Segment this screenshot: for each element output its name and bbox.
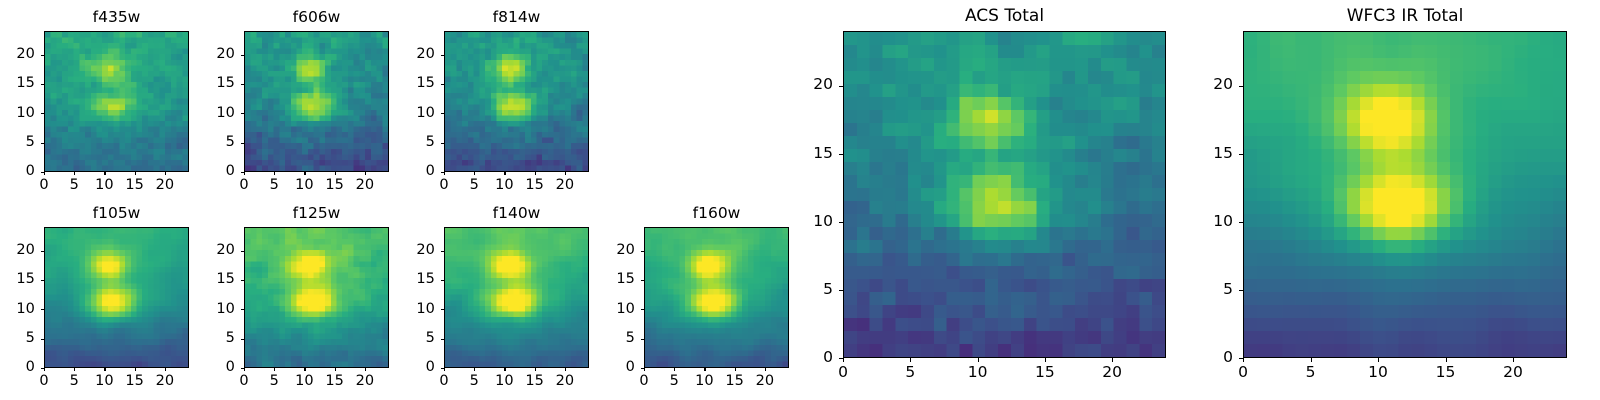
x-tick-wfc3_total-10 (1378, 358, 1379, 362)
y-tick-wfc3_total-20 (1239, 86, 1243, 87)
x-tick-label-wfc3_total-0: 0 (1213, 365, 1273, 381)
panel-wfc3_total: WFC3 IR Total0510152005101520 (0, 0, 1600, 400)
y-tick-wfc3_total-10 (1239, 222, 1243, 223)
x-tick-wfc3_total-5 (1311, 358, 1312, 362)
panel-title-wfc3_total: WFC3 IR Total (1243, 8, 1567, 25)
figure-canvas: f435w0510152005101520f606w05101520051015… (0, 0, 1600, 400)
heatmap-image-wfc3_total (1243, 31, 1567, 358)
x-tick-label-wfc3_total-15: 15 (1416, 365, 1476, 381)
y-tick-label-wfc3_total-10: 10 (1173, 214, 1233, 230)
x-tick-label-wfc3_total-20: 20 (1483, 365, 1543, 381)
heatmap-pixels-wfc3_total (1244, 32, 1566, 357)
x-tick-wfc3_total-20 (1513, 358, 1514, 362)
y-tick-wfc3_total-15 (1239, 154, 1243, 155)
x-tick-label-wfc3_total-5: 5 (1281, 365, 1341, 381)
y-tick-wfc3_total-0 (1239, 358, 1243, 359)
y-tick-label-wfc3_total-0: 0 (1173, 350, 1233, 366)
x-tick-label-wfc3_total-10: 10 (1348, 365, 1408, 381)
x-tick-wfc3_total-0 (1243, 358, 1244, 362)
y-tick-label-wfc3_total-15: 15 (1173, 146, 1233, 162)
y-tick-label-wfc3_total-20: 20 (1173, 77, 1233, 93)
y-tick-label-wfc3_total-5: 5 (1173, 282, 1233, 298)
x-tick-wfc3_total-15 (1446, 358, 1447, 362)
y-tick-wfc3_total-5 (1239, 290, 1243, 291)
